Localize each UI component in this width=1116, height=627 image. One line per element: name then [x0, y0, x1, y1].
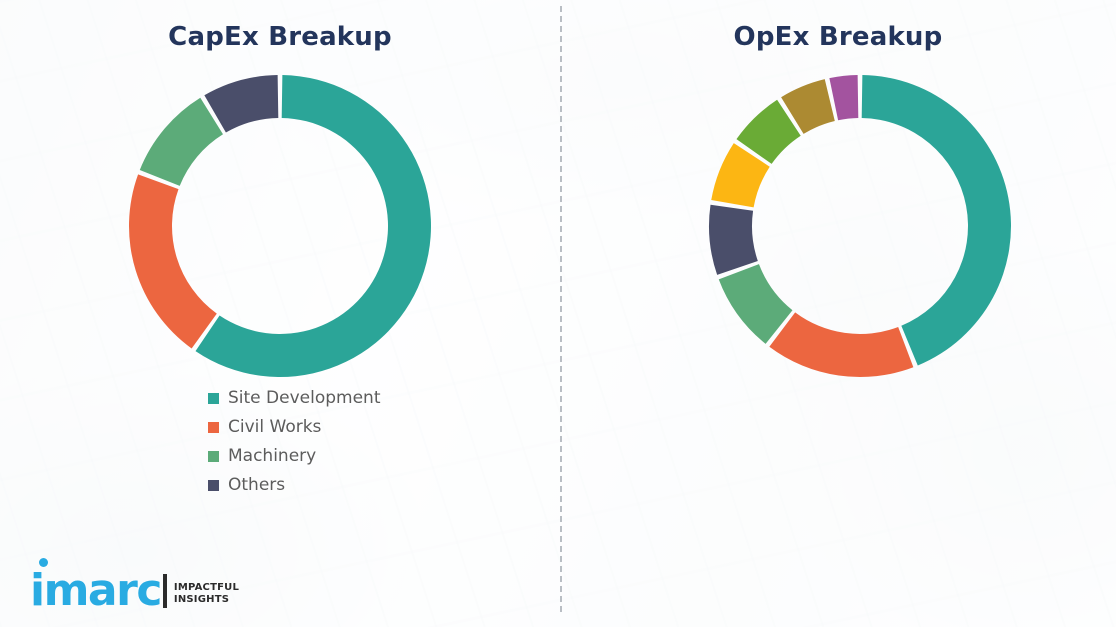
- slide-canvas: CapEx Breakup Site DevelopmentCivil Work…: [0, 0, 1116, 627]
- legend-item: Others: [208, 476, 381, 495]
- donut-slice: [129, 174, 217, 348]
- legend-swatch-icon: [208, 451, 219, 462]
- legend-swatch-icon: [208, 480, 219, 491]
- opex-donut-chart: [708, 74, 1012, 382]
- donut-slice: [829, 75, 858, 120]
- capex-donut-svg: [128, 74, 432, 378]
- logo-tagline: IMPACTFUL INSIGHTS: [174, 582, 239, 611]
- logo-wordmark-text: imarc: [30, 565, 161, 616]
- imarc-logo: imarc IMPACTFUL INSIGHTS: [30, 571, 239, 611]
- donut-slice: [709, 205, 758, 275]
- donut-slice: [140, 98, 223, 186]
- donut-slice: [769, 312, 913, 377]
- legend-swatch-icon: [208, 422, 219, 433]
- legend-label: Civil Works: [228, 418, 321, 437]
- logo-tagline-line2: INSIGHTS: [174, 594, 239, 606]
- opex-chart-title: OpEx Breakup: [560, 22, 1116, 52]
- opex-donut-svg: [708, 74, 1012, 378]
- legend-swatch-icon: [208, 393, 219, 404]
- legend-label: Others: [228, 476, 285, 495]
- legend-label: Site Development: [228, 389, 381, 408]
- legend-item: Site Development: [208, 389, 381, 408]
- legend-item: Civil Works: [208, 418, 381, 437]
- donut-slice: [862, 75, 1011, 365]
- logo-tagline-line1: IMPACTFUL: [174, 582, 239, 594]
- capex-chart-title: CapEx Breakup: [0, 22, 560, 52]
- logo-wordmark: imarc: [30, 571, 161, 611]
- logo-dot-icon: [39, 558, 48, 567]
- capex-donut-chart: [128, 74, 432, 382]
- vertical-dashed-divider: [560, 6, 562, 612]
- capex-legend: Site DevelopmentCivil WorksMachineryOthe…: [208, 389, 381, 505]
- legend-label: Machinery: [228, 447, 316, 466]
- legend-item: Machinery: [208, 447, 381, 466]
- logo-divider-bar: [163, 574, 167, 608]
